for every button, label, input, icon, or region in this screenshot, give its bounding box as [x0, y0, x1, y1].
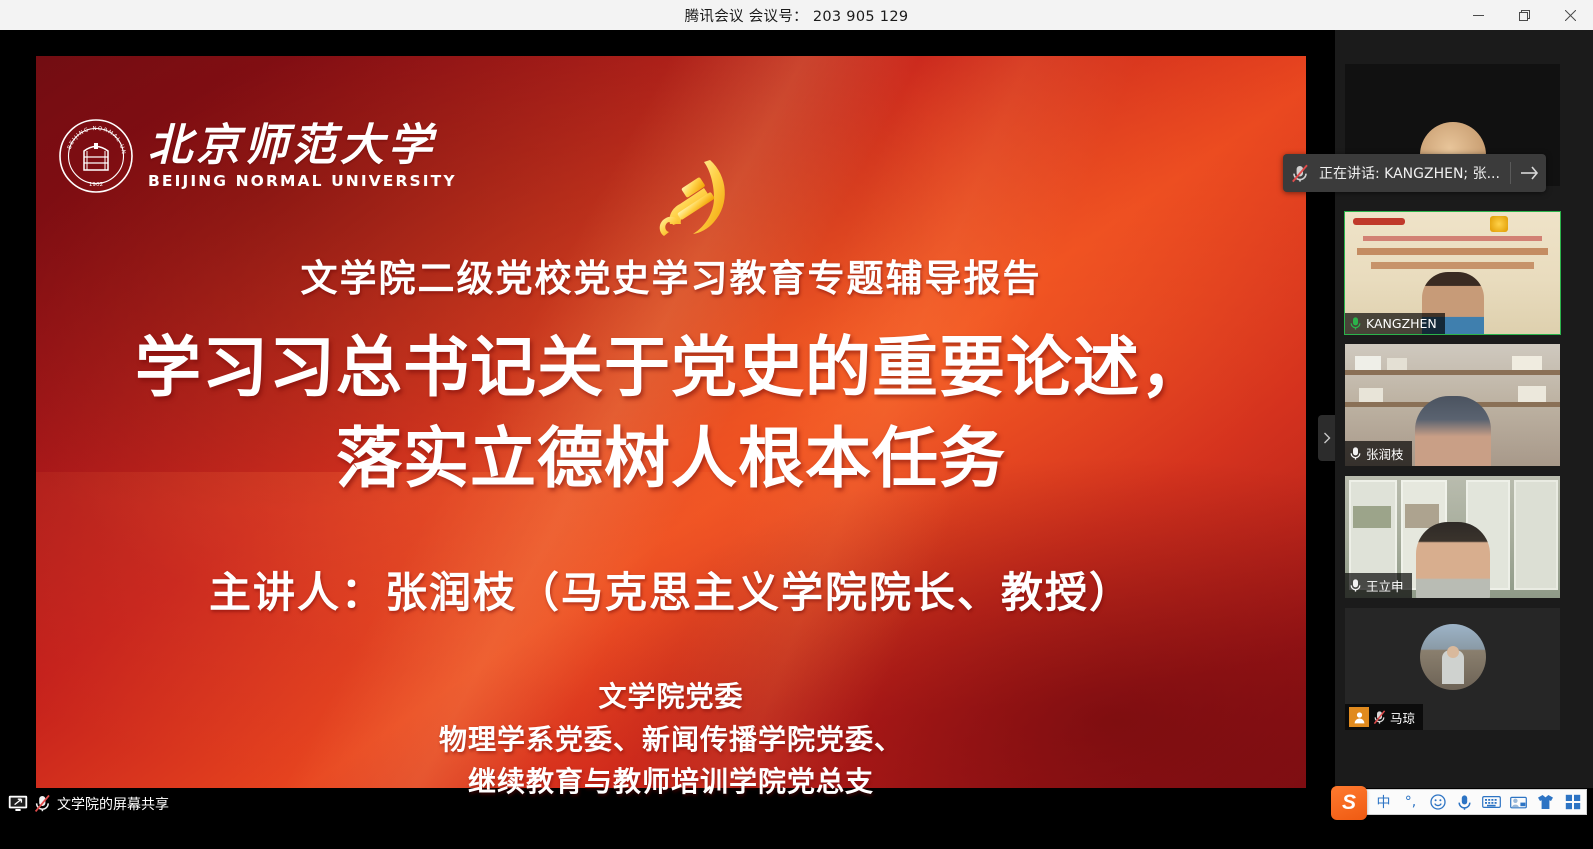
sogou-logo-icon[interactable]: S — [1331, 786, 1367, 820]
bnu-name-cn: 北京师范大学 — [148, 122, 457, 170]
avatar — [1420, 624, 1486, 690]
video-tile[interactable]: 张润枝 — [1345, 344, 1560, 466]
slide-title-line2: 落实立德树人根本任务 — [36, 413, 1306, 504]
tile-name: 王立申 — [1366, 576, 1404, 595]
cpc-emblem-icon — [648, 152, 744, 253]
collapse-right-icon[interactable] — [1518, 164, 1540, 182]
tile-name: KANGZHEN — [1366, 316, 1437, 331]
svg-text:BEIJING NORMAL UNIVERSITY: BEIJING NORMAL UNIVERSITY — [58, 118, 126, 155]
pill-divider — [1510, 162, 1511, 184]
tile-name: 马琼 — [1390, 708, 1415, 727]
video-tile[interactable]: 马琼 — [1345, 608, 1560, 730]
participant-video-rail[interactable]: 文学院的屏幕共享 KANGZHEN — [1335, 30, 1593, 819]
ime-toolbar[interactable]: S 中 °, — [1339, 789, 1587, 815]
language-mode-icon[interactable]: 中 — [1370, 790, 1397, 814]
slide-speaker-line: 主讲人：张润枝（马克思主义学院院长、教授） — [36, 559, 1306, 620]
tile-label: 马琼 — [1345, 704, 1423, 730]
toolbox-grid-icon[interactable] — [1559, 790, 1586, 814]
slide-subtitle: 文学院二级党校党史学习教育专题辅导报告 — [36, 248, 1306, 302]
video-tile[interactable]: 王立申 — [1345, 476, 1560, 598]
meeting-window-body: BEIJING NORMAL UNIVERSITY 1902 北京师范大学 BE… — [0, 30, 1593, 819]
screen-share-icon — [8, 795, 28, 812]
bnu-name-en: BEIJING NORMAL UNIVERSITY — [148, 172, 457, 190]
chevron-right-icon — [1323, 432, 1331, 444]
mic-muted-icon — [1373, 710, 1386, 725]
mic-on-icon — [1349, 446, 1362, 461]
mic-active-icon — [1349, 316, 1362, 331]
person-avatar-icon — [1349, 707, 1369, 727]
bnu-logo: BEIJING NORMAL UNIVERSITY 1902 北京师范大学 BE… — [58, 118, 457, 194]
tile-name: 张润枝 — [1366, 444, 1404, 463]
emoji-icon[interactable] — [1424, 790, 1451, 814]
active-speaker-text: 正在讲话: KANGZHEN; 张... — [1319, 163, 1500, 183]
video-tile[interactable]: KANGZHEN — [1345, 212, 1560, 334]
rail-collapse-handle[interactable] — [1318, 415, 1335, 461]
bnu-wordmark: 北京师范大学 BEIJING NORMAL UNIVERSITY — [148, 122, 457, 191]
organizer-line-1: 文学院党委 — [36, 676, 1306, 719]
shared-screen-stage[interactable]: BEIJING NORMAL UNIVERSITY 1902 北京师范大学 BE… — [0, 30, 1332, 819]
mic-muted-icon — [1291, 164, 1309, 183]
skin-shirt-icon[interactable] — [1532, 790, 1559, 814]
slide-title-line1: 学习习总书记关于党史的重要论述， — [36, 322, 1306, 413]
restore-button[interactable] — [1501, 0, 1547, 30]
voice-input-icon[interactable] — [1451, 790, 1478, 814]
bnu-seal-icon: BEIJING NORMAL UNIVERSITY 1902 — [58, 118, 134, 194]
slide-organizers: 文学院党委 物理学系党委、新闻传播学院党委、 继续教育与教师培训学院党总支 — [36, 676, 1306, 804]
minimize-icon — [1473, 10, 1484, 21]
contact-card-icon[interactable] — [1505, 790, 1532, 814]
presentation-slide: BEIJING NORMAL UNIVERSITY 1902 北京师范大学 BE… — [36, 56, 1306, 812]
close-button[interactable] — [1547, 0, 1593, 30]
window-title: 腾讯会议 会议号： 203 905 129 — [685, 5, 909, 26]
window-titlebar: 腾讯会议 会议号： 203 905 129 — [0, 0, 1593, 30]
mic-on-icon — [1349, 578, 1362, 593]
svg-text:1902: 1902 — [89, 182, 103, 188]
slide-main-title: 学习习总书记关于党史的重要论述， 落实立德树人根本任务 — [36, 322, 1306, 504]
close-icon — [1565, 10, 1576, 21]
tile-label: 张润枝 — [1345, 441, 1412, 466]
tile-label: KANGZHEN — [1345, 313, 1445, 334]
minimize-button[interactable] — [1455, 0, 1501, 30]
organizer-line-3: 继续教育与教师培训学院党总支 — [36, 761, 1306, 804]
organizer-line-2: 物理学系党委、新闻传播学院党委、 — [36, 719, 1306, 762]
punctuation-mode-icon[interactable]: °, — [1397, 790, 1424, 814]
active-speaker-banner[interactable]: 正在讲话: KANGZHEN; 张... — [1283, 154, 1546, 192]
keyboard-icon[interactable] — [1478, 790, 1505, 814]
tile-label: 王立申 — [1345, 573, 1412, 598]
window-controls — [1455, 0, 1593, 30]
restore-icon — [1519, 10, 1530, 21]
